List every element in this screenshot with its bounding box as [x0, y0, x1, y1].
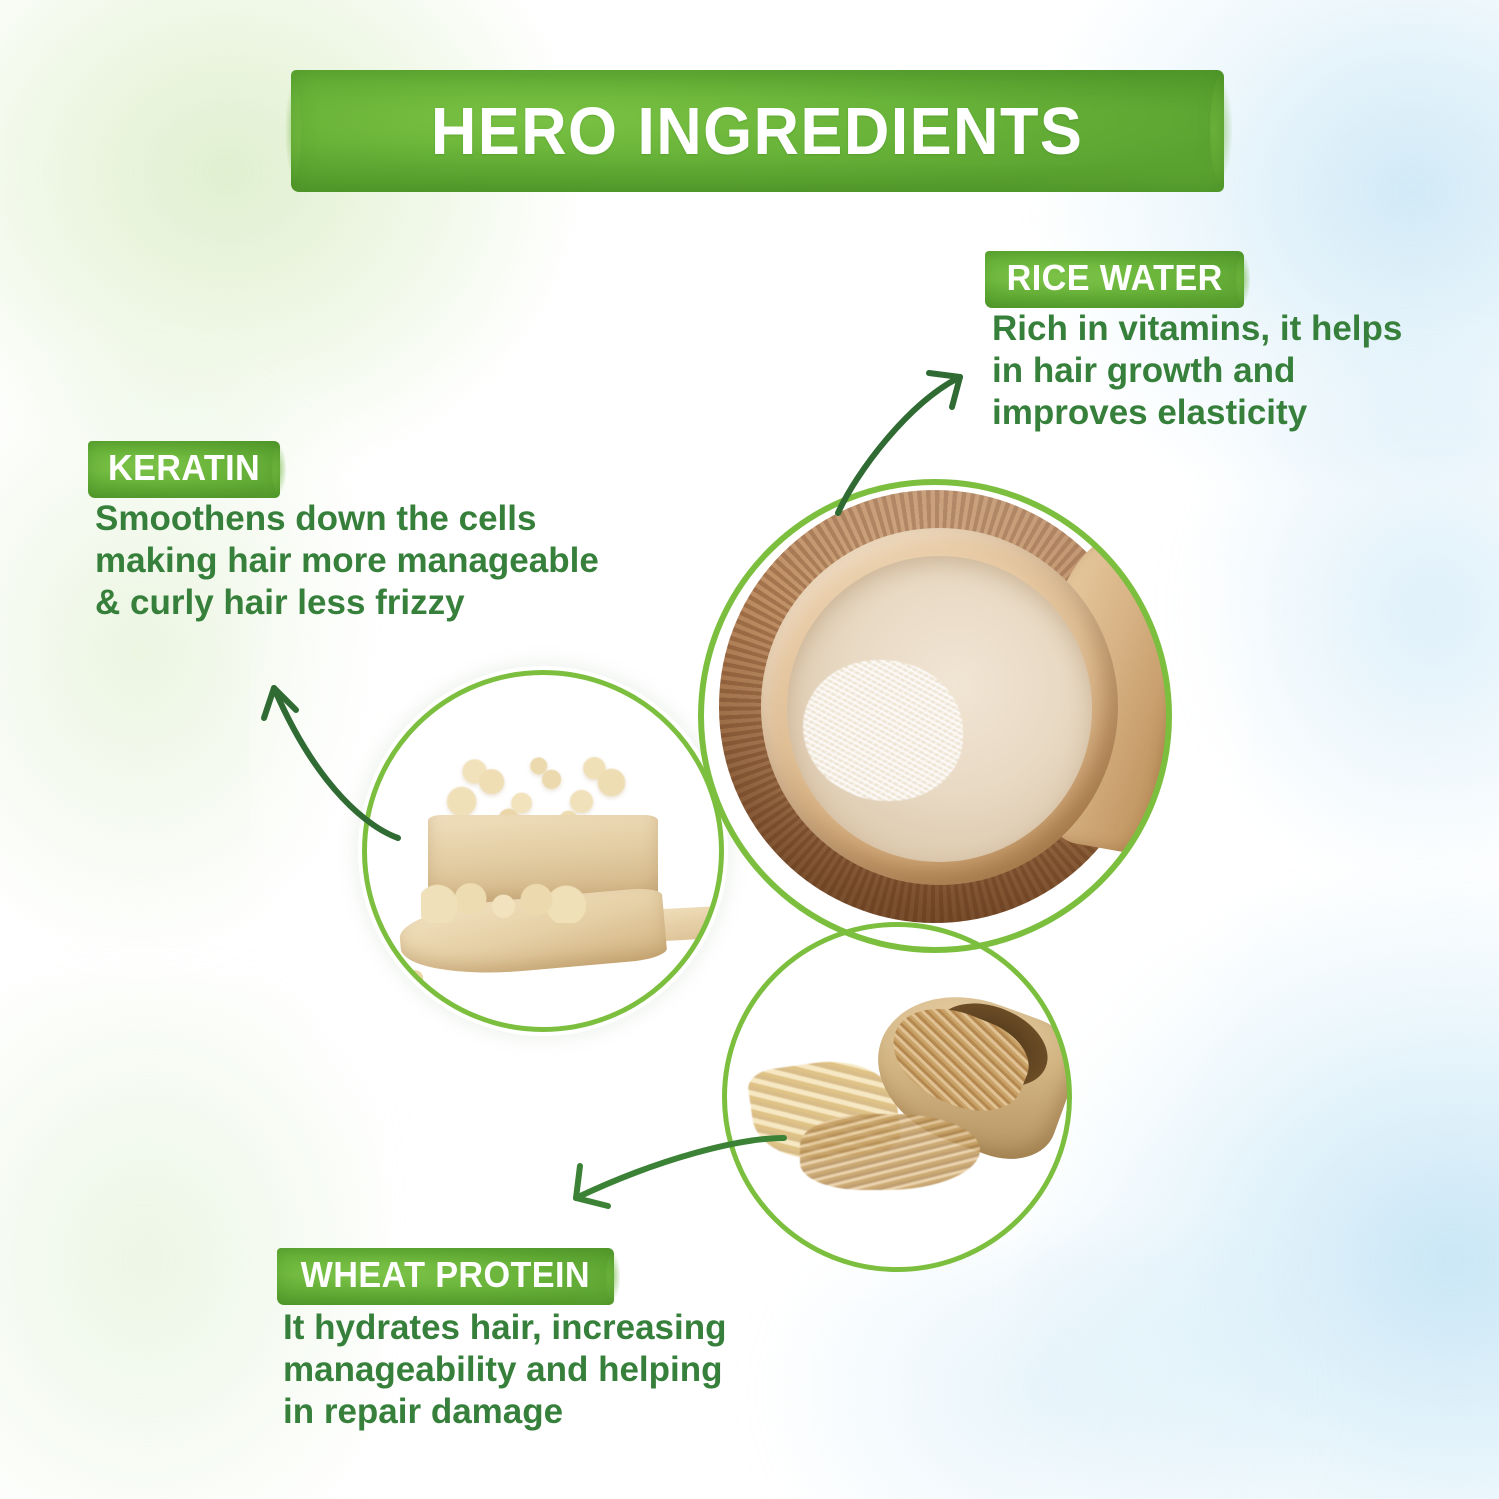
- wheat-protein-label-chip: WHEAT PROTEIN: [277, 1248, 614, 1305]
- rice-grains: [803, 660, 963, 801]
- keratin-label: KERATIN: [108, 447, 260, 489]
- background-wash-blue-bottom: [760, 1240, 1320, 1499]
- wheat-protein-description: It hydrates hair, increasing manageabili…: [283, 1307, 823, 1433]
- page-title: HERO INGREDIENTS: [431, 93, 1083, 170]
- keratin-label-chip: KERATIN: [88, 441, 280, 498]
- background-wash-green-left: [0, 330, 400, 970]
- rice-water-description: Rich in vitamins, it helps in hair growt…: [992, 308, 1462, 434]
- keratin-image-circle: [364, 672, 722, 1030]
- background-wash-blue-bottom-right: [1020, 880, 1499, 1499]
- keratin-description: Smoothens down the cells making hair mor…: [95, 498, 735, 624]
- wheat-protein-label: WHEAT PROTEIN: [301, 1254, 590, 1296]
- rice-water-image-circle: [700, 481, 1170, 951]
- hero-ingredients-infographic: HERO INGREDIENTS RICE WATER Rich in vita…: [0, 0, 1499, 1499]
- wheat-protein-image-circle: [724, 924, 1070, 1270]
- spilled-wheat-grains: [800, 1114, 980, 1190]
- page-title-banner: HERO INGREDIENTS: [291, 70, 1224, 192]
- rice-water-label-chip: RICE WATER: [985, 251, 1244, 308]
- loose-soybeans: [382, 958, 432, 987]
- soybeans-in-scoop: [421, 883, 586, 922]
- rice-water-label: RICE WATER: [1007, 257, 1223, 299]
